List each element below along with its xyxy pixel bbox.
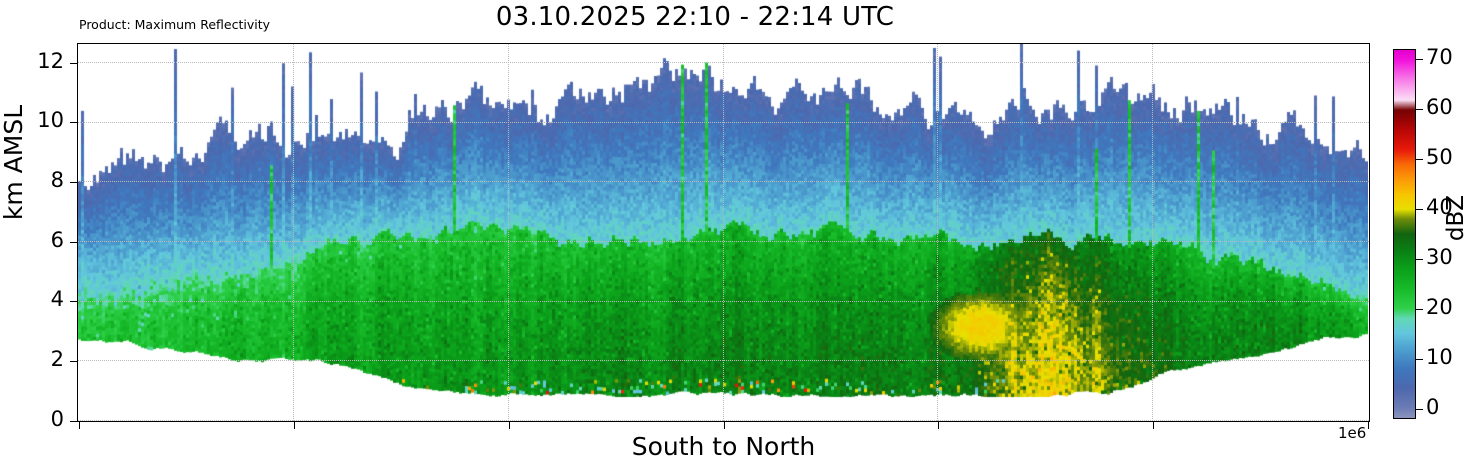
colorbar-tick-mark — [1416, 409, 1423, 410]
colorbar-tick-label: 60 — [1426, 95, 1453, 119]
colorbar-tick-mark — [1416, 209, 1423, 210]
y-tick-mark — [70, 63, 77, 64]
y-tick-mark — [70, 421, 77, 422]
reflectivity-heatmap — [78, 44, 1368, 420]
colorbar — [1393, 49, 1416, 419]
colorbar-tick-label: 0 — [1426, 395, 1439, 419]
x-tick-mark — [1368, 422, 1369, 429]
x-tick-mark — [938, 422, 939, 429]
product-annotation: Product: Maximum Reflectivity — [79, 17, 270, 32]
plot-area — [77, 43, 1370, 422]
colorbar-tick-mark — [1416, 59, 1423, 60]
y-tick-mark — [70, 122, 77, 123]
y-tick-label: 12 — [0, 49, 64, 73]
colorbar-tick-mark — [1416, 359, 1423, 360]
y-tick-mark — [70, 301, 77, 302]
y-tick-label: 10 — [0, 108, 64, 132]
colorbar-tick-label: 30 — [1426, 245, 1453, 269]
y-tick-label: 0 — [0, 407, 64, 431]
x-axis-label: South to North — [77, 432, 1370, 461]
y-tick-label: 8 — [0, 168, 64, 192]
colorbar-tick-mark — [1416, 309, 1423, 310]
y-tick-mark — [70, 361, 77, 362]
x-axis-offset-text: 1e6 — [1338, 424, 1366, 442]
colorbar-tick-mark — [1416, 259, 1423, 260]
colorbar-gradient — [1394, 50, 1415, 418]
colorbar-tick-label: 10 — [1426, 345, 1453, 369]
colorbar-tick-label: 50 — [1426, 145, 1453, 169]
x-tick-mark — [79, 422, 80, 429]
y-tick-mark — [70, 242, 77, 243]
colorbar-tick-label: 20 — [1426, 295, 1453, 319]
x-tick-mark — [509, 422, 510, 429]
x-tick-mark — [294, 422, 295, 429]
y-tick-label: 2 — [0, 347, 64, 371]
gridline-horizontal — [78, 420, 1369, 421]
radar-cross-section-figure: 03.10.2025 22:10 - 22:14 UTC Product: Ma… — [0, 0, 1482, 470]
colorbar-axis-label: dBZ — [1443, 195, 1469, 241]
y-tick-mark — [70, 182, 77, 183]
x-tick-mark — [1153, 422, 1154, 429]
y-tick-label: 4 — [0, 287, 64, 311]
colorbar-tick-mark — [1416, 109, 1423, 110]
x-tick-mark — [724, 422, 725, 429]
colorbar-tick-label: 70 — [1426, 45, 1453, 69]
colorbar-tick-mark — [1416, 159, 1423, 160]
y-tick-label: 6 — [0, 228, 64, 252]
